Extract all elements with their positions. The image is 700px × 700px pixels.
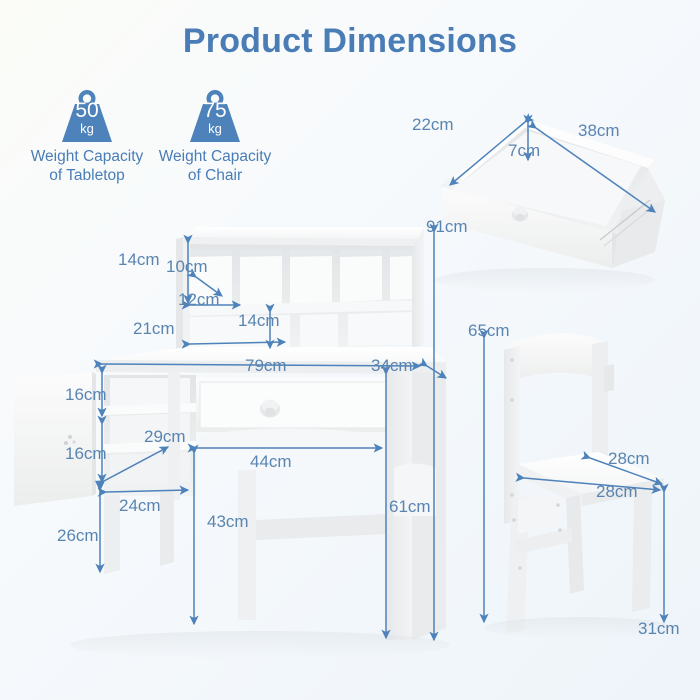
dim-drawer-width: 22cm — [412, 116, 454, 133]
infographic-canvas: Product Dimensions 50 kg Weight Capacity… — [0, 0, 700, 700]
drawer-artwork — [440, 119, 665, 268]
dim-cabinet-lower-height: 16cm — [65, 445, 107, 462]
dim-hutch-upper-depth: 10cm — [166, 258, 208, 275]
dim-knee-height: 43cm — [207, 513, 249, 530]
dim-cabinet-leg-height: 26cm — [57, 527, 99, 544]
dim-chair-seat-height: 31cm — [638, 620, 680, 637]
dim-chair-seat-depth: 28cm — [608, 450, 650, 467]
dim-desk-height: 61cm — [389, 498, 431, 515]
dim-hutch-lower-width: 21cm — [133, 320, 175, 337]
dim-desktop-depth: 34cm — [371, 357, 413, 374]
dim-hutch-upper-height: 14cm — [118, 251, 160, 268]
dim-desktop-width: 79cm — [245, 357, 287, 374]
dim-chair-seat-width: 28cm — [596, 483, 638, 500]
dim-drawer-inner-depth: 7cm — [508, 142, 540, 159]
furniture-illustrations — [0, 0, 700, 700]
dim-cabinet-diagonal-depth: 29cm — [144, 428, 186, 445]
dim-hutch-lower-height: 14cm — [238, 312, 280, 329]
dim-knee-width: 44cm — [250, 453, 292, 470]
dim-chair-total-height: 65cm — [468, 322, 510, 339]
dim-desk-total-height: 91cm — [426, 218, 468, 235]
chair-artwork — [504, 333, 664, 634]
dim-drawer-length: 38cm — [578, 122, 620, 139]
dim-hutch-cubby-width: 12cm — [178, 291, 220, 308]
dim-cabinet-upper-height: 16cm — [65, 386, 107, 403]
dim-cabinet-width: 24cm — [119, 497, 161, 514]
desk-artwork — [14, 227, 446, 640]
